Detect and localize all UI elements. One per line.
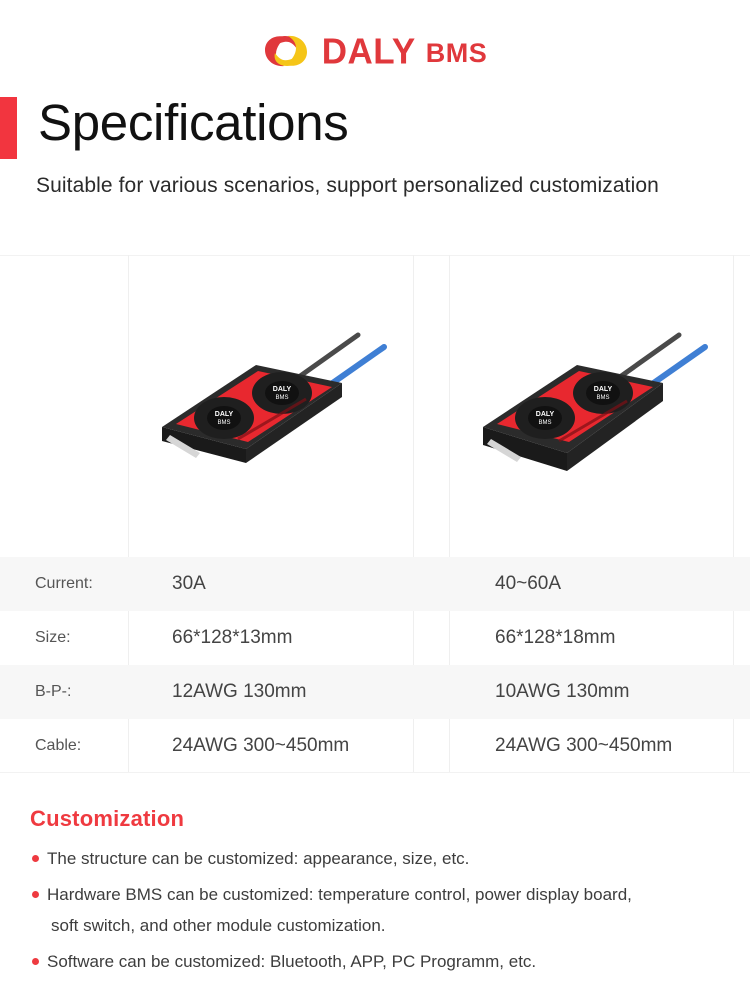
product-image-cell-2: DALY BMS DALY BMS: [450, 256, 733, 557]
product-image-cell-1: DALY BMS DALY BMS: [129, 256, 413, 557]
page-subtitle: Suitable for various scenarios, support …: [36, 174, 659, 198]
table-row: Cable: 24AWG 300~450mm 24AWG 300~450mm: [0, 719, 750, 773]
customization-bullet-list: The structure can be customized: appeara…: [30, 843, 730, 982]
product-image-row: DALY BMS DALY BMS: [0, 256, 750, 557]
svg-text:BMS: BMS: [275, 395, 288, 401]
svg-text:DALY: DALY: [215, 411, 234, 418]
row-value-col1: 30A: [172, 557, 206, 611]
bms-board-photo-icon: DALY BMS DALY BMS: [467, 317, 717, 497]
svg-text:BMS: BMS: [596, 395, 609, 401]
bms-board-photo-icon: DALY BMS DALY BMS: [146, 317, 396, 497]
row-label: B-P-:: [35, 665, 71, 719]
row-value-col2: 40~60A: [495, 557, 561, 611]
table-row: Current: 30A 40~60A: [0, 557, 750, 611]
row-value-col1: 12AWG 130mm: [172, 665, 306, 719]
specifications-table: DALY BMS DALY BMS: [0, 255, 750, 773]
list-item: Software can be customized: Bluetooth, A…: [30, 946, 730, 977]
svg-text:BMS: BMS: [217, 420, 230, 426]
row-value-col1: 66*128*13mm: [172, 611, 292, 665]
list-item-text-line2: soft switch, and other module customizat…: [47, 910, 730, 941]
row-label: Cable:: [35, 719, 81, 773]
row-value-col1: 24AWG 300~450mm: [172, 719, 349, 773]
row-label: Size:: [35, 611, 71, 665]
title-accent-bar: [0, 97, 17, 159]
bullet-dot-icon: [32, 855, 39, 862]
list-item-text: Software can be customized: Bluetooth, A…: [47, 952, 536, 971]
list-item: Hardware BMS can be customized: temperat…: [30, 879, 730, 941]
brand-header: DALY BMS: [0, 27, 750, 75]
list-item-text: Hardware BMS can be customized: temperat…: [47, 885, 632, 904]
daly-swirl-logo-icon: [263, 33, 309, 69]
bullet-dot-icon: [32, 958, 39, 965]
row-value-col2: 66*128*18mm: [495, 611, 615, 665]
svg-text:DALY: DALY: [273, 386, 292, 393]
list-item-text: The structure can be customized: appeara…: [47, 849, 469, 868]
brand-suffix: BMS: [426, 40, 488, 67]
table-row: B-P-: 12AWG 130mm 10AWG 130mm: [0, 665, 750, 719]
page-title: Specifications: [38, 92, 348, 153]
table-row: Size: 66*128*13mm 66*128*18mm: [0, 611, 750, 665]
list-item: The structure can be customized: appeara…: [30, 843, 730, 874]
row-label: Current:: [35, 557, 93, 611]
customization-heading: Customization: [30, 806, 184, 832]
svg-text:DALY: DALY: [593, 386, 612, 393]
row-value-col2: 24AWG 300~450mm: [495, 719, 672, 773]
bullet-dot-icon: [32, 891, 39, 898]
svg-text:DALY: DALY: [535, 411, 554, 418]
brand-name: DALY: [322, 33, 416, 69]
row-value-col2: 10AWG 130mm: [495, 665, 629, 719]
svg-text:BMS: BMS: [538, 420, 551, 426]
